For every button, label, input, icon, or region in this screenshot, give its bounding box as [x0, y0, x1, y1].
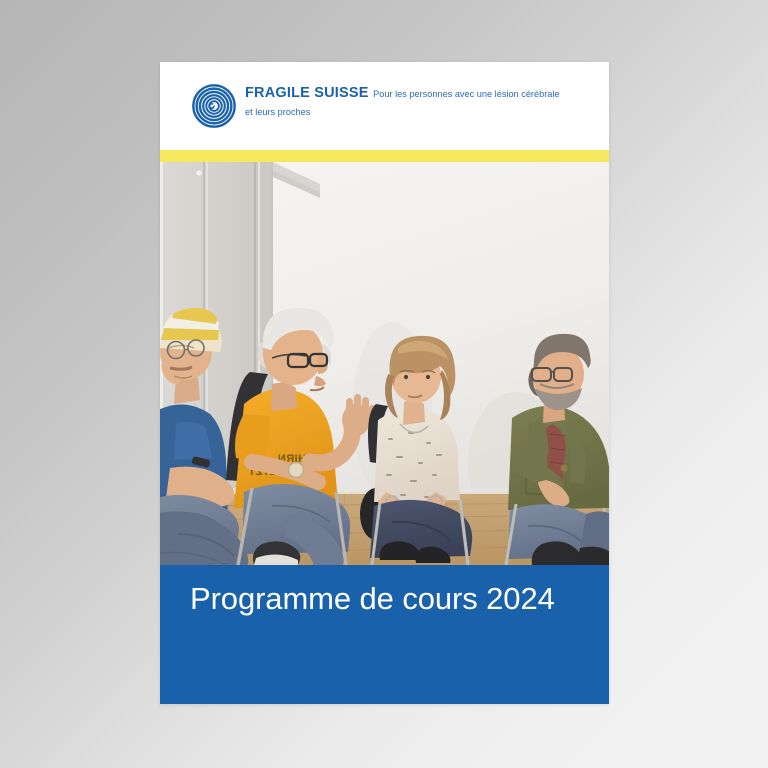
- page-title: Programme de cours 2024: [190, 582, 555, 616]
- logo-text-block: FRAGILE SUISSE Pour les personnes avec u…: [245, 82, 560, 120]
- cover-photograph: HIRN- VERLETZT: [160, 162, 609, 565]
- tagline-line-1: Pour les personnes avec une lésion céréb…: [373, 89, 559, 99]
- yellow-accent-bar: [160, 150, 609, 162]
- title-banner: Programme de cours 2024: [160, 565, 609, 704]
- brochure-cover-card: FRAGILE SUISSE Pour les personnes avec u…: [160, 62, 609, 704]
- page-backdrop: FRAGILE SUISSE Pour les personnes avec u…: [0, 0, 768, 768]
- organization-logo[interactable]: FRAGILE SUISSE Pour les personnes avec u…: [192, 82, 560, 127]
- cover-header: FRAGILE SUISSE Pour les personnes avec u…: [160, 62, 609, 150]
- tagline-line-2: et leurs proches: [245, 107, 310, 117]
- spiral-logo-icon: [192, 83, 236, 127]
- organization-name: FRAGILE SUISSE: [245, 85, 369, 101]
